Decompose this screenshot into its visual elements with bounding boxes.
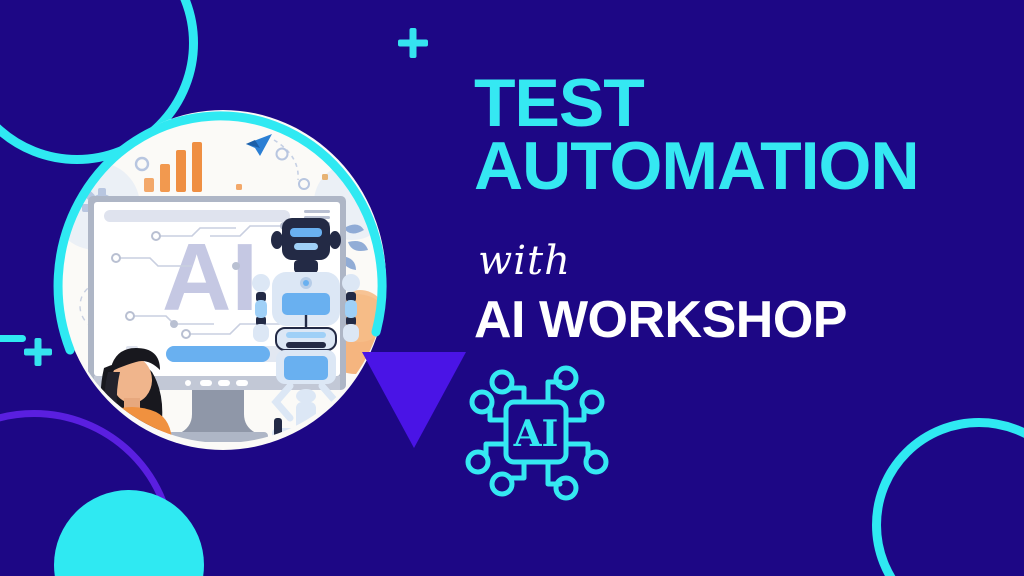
poster-canvas: AI [0,0,1024,576]
headline-line-2: AUTOMATION [474,135,1014,198]
ai-workspace-illustration: AI [46,100,396,464]
chip-ai-label: AI [513,413,559,455]
ai-chip-icon: AI [462,358,610,506]
headline-block: TEST AUTOMATION [474,72,1014,197]
cyan-arc-decoration [46,100,396,464]
plus-icon [398,28,428,58]
cyan-ring-bottom-right-icon [872,418,1024,576]
connector-word: with [478,238,571,284]
cyan-dash-icon [0,335,26,342]
violet-triangle-icon [362,352,466,448]
subheadline: AI WORKSHOP [474,290,847,350]
headline-line-1: TEST [474,72,1014,135]
